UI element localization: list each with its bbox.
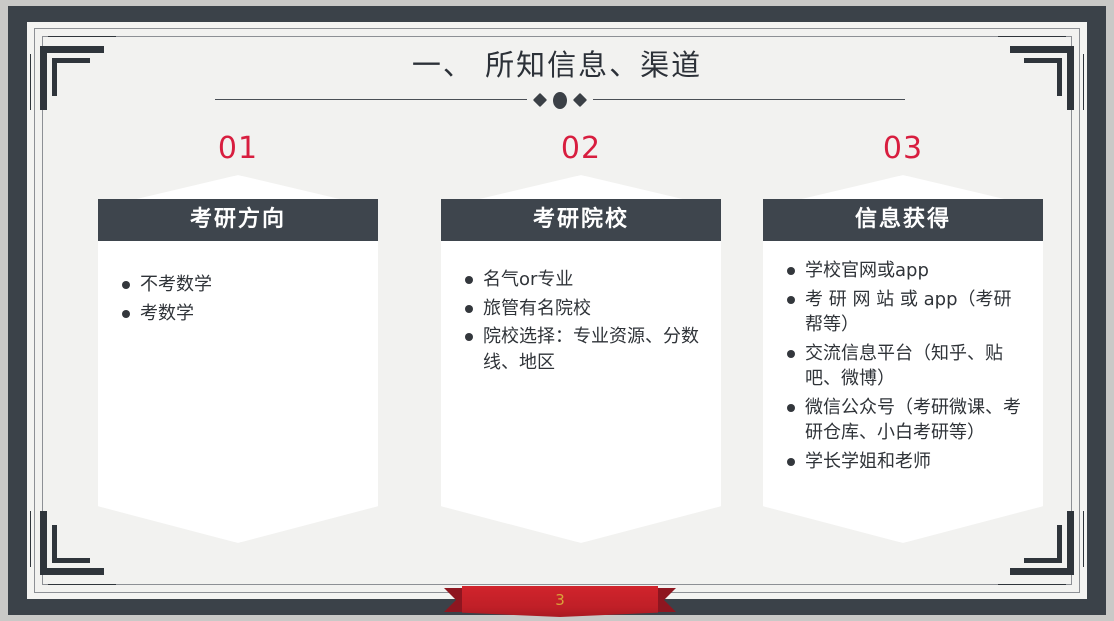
list-item: 微信公众号（考研微课、考研仓库、小白考研等）	[805, 395, 1025, 446]
card-1-bullet-list: 不考数学 考数学	[98, 272, 378, 326]
card-1-header: 考研方向	[98, 199, 378, 241]
list-item: 交流信息平台（知乎、贴吧、微博）	[805, 341, 1025, 392]
card-group: 01 02 03 考研方向 考研院校 信息获得 不考数学 考数学 名气or专业 …	[0, 0, 1114, 621]
slide: 一、 所知信息、渠道 01 02 03 考研方向 考研院校 信息获得 不考数学 …	[0, 0, 1114, 621]
list-item: 学长学姐和老师	[805, 449, 1025, 475]
card-3-body: 学校官网或app 考 研 网 站 或 app（考研帮等） 交流信息平台（知乎、贴…	[763, 258, 1043, 477]
card-3-header: 信息获得	[763, 199, 1043, 241]
card-3-number: 03	[763, 131, 1043, 177]
card-1-number: 01	[98, 131, 378, 177]
page-number-ribbon: 3	[444, 586, 676, 621]
page-number: 3	[462, 586, 658, 614]
card-2-bullet-list: 名气or专业 旅管有名院校 院校选择：专业资源、分数线、地区	[441, 267, 721, 375]
list-item: 院校选择：专业资源、分数线、地区	[483, 324, 703, 375]
list-item: 名气or专业	[483, 267, 703, 293]
list-item: 考数学	[140, 301, 360, 327]
card-2-body: 名气or专业 旅管有名院校 院校选择：专业资源、分数线、地区	[441, 267, 721, 378]
list-item: 旅管有名院校	[483, 296, 703, 322]
list-item: 不考数学	[140, 272, 360, 298]
card-1-body: 不考数学 考数学	[98, 272, 378, 329]
card-3-bullet-list: 学校官网或app 考 研 网 站 或 app（考研帮等） 交流信息平台（知乎、贴…	[763, 258, 1043, 474]
card-2-number: 02	[441, 131, 721, 177]
list-item: 学校官网或app	[805, 258, 1025, 284]
list-item: 考 研 网 站 或 app（考研帮等）	[805, 287, 1025, 338]
card-2-header: 考研院校	[441, 199, 721, 241]
